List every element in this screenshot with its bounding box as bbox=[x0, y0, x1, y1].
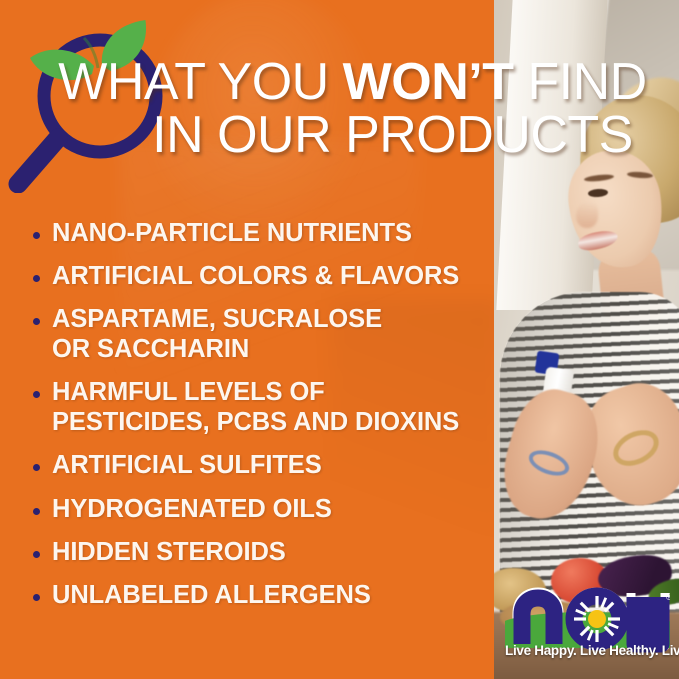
list-item-label: HYDROGENATED OILS bbox=[52, 494, 332, 524]
list-item: ARTIFICIAL SULFITES bbox=[33, 450, 488, 480]
list-item: HYDROGENATED OILS bbox=[33, 494, 488, 524]
bullet-dot-icon bbox=[33, 232, 40, 239]
sunburst-icon bbox=[574, 596, 620, 642]
list-item: HARMFUL LEVELS OF PESTICIDES, PCBS AND D… bbox=[33, 377, 488, 437]
bullet-dot-icon bbox=[33, 275, 40, 282]
registered-mark-icon: ® bbox=[666, 592, 670, 602]
list-item-label: NANO-PARTICLE NUTRIENTS bbox=[52, 218, 412, 248]
list-item-label: HIDDEN STEROIDS bbox=[52, 537, 286, 567]
list-item: NANO-PARTICLE NUTRIENTS bbox=[33, 218, 488, 248]
list-item: ARTIFICIAL COLORS & FLAVORS bbox=[33, 261, 488, 291]
bullet-dot-icon bbox=[33, 318, 40, 325]
bullet-dot-icon bbox=[33, 594, 40, 601]
list-item-label: HARMFUL LEVELS OF PESTICIDES, PCBS AND D… bbox=[52, 377, 459, 437]
list-item-label: ARTIFICIAL COLORS & FLAVORS bbox=[52, 261, 459, 291]
list-item-label: UNLABELED ALLERGENS bbox=[52, 580, 371, 610]
bullet-dot-icon bbox=[33, 551, 40, 558]
poster-root: WHAT YOU WON’T FIND IN OUR PRODUCTS NANO… bbox=[0, 0, 679, 679]
list-item: UNLABELED ALLERGENS bbox=[33, 580, 488, 610]
excluded-ingredients-list: NANO-PARTICLE NUTRIENTS ARTIFICIAL COLOR… bbox=[33, 218, 488, 623]
list-item: HIDDEN STEROIDS bbox=[33, 537, 488, 567]
list-item-label: ASPARTAME, SUCRALOSE OR SACCHARIN bbox=[52, 304, 382, 364]
bullet-dot-icon bbox=[33, 464, 40, 471]
brand-tagline: Live Happy. Live Healthy. Live NOW. bbox=[505, 643, 673, 658]
photo-nose bbox=[576, 202, 598, 228]
list-item-label: ARTIFICIAL SULFITES bbox=[52, 450, 322, 480]
bullet-dot-icon bbox=[33, 508, 40, 515]
list-item: ASPARTAME, SUCRALOSE OR SACCHARIN bbox=[33, 304, 488, 364]
bullet-dot-icon bbox=[33, 391, 40, 398]
